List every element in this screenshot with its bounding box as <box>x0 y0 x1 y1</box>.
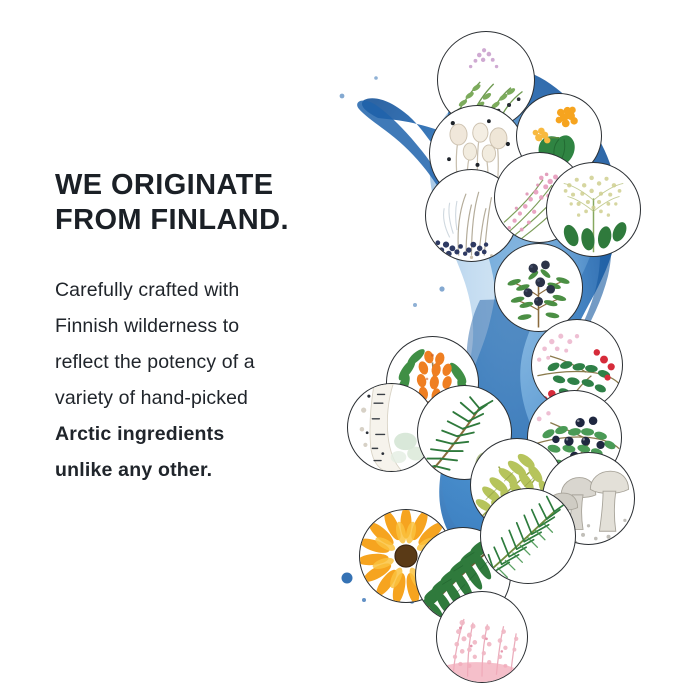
headline-line-2: FROM FINLAND. <box>55 203 355 238</box>
marketing-graphic: WE ORIGINATE FROM FINLAND. Carefully cra… <box>0 0 679 679</box>
headline-line-1: WE ORIGINATE <box>55 168 355 203</box>
body-paragraph: Carefully crafted with Finnish wildernes… <box>55 272 355 488</box>
body-line-2: Finnish wilderness to <box>55 308 355 344</box>
ingredient-disc-meadowsweet[interactable] <box>546 162 641 257</box>
body-line-1: Carefully crafted with <box>55 272 355 308</box>
ingredient-disc-pine-needle[interactable] <box>480 488 576 584</box>
ingredient-disc-willowherb[interactable] <box>436 591 528 683</box>
body-line-6: unlike any other. <box>55 452 355 488</box>
brand-copy-block: WE ORIGINATE FROM FINLAND. Carefully cra… <box>55 168 355 488</box>
page-title: WE ORIGINATE FROM FINLAND. <box>55 168 355 238</box>
body-line-3: reflect the potency of a <box>55 344 355 380</box>
body-line-4: variety of hand-picked <box>55 380 355 416</box>
body-line-5: Arctic ingredients <box>55 416 355 452</box>
